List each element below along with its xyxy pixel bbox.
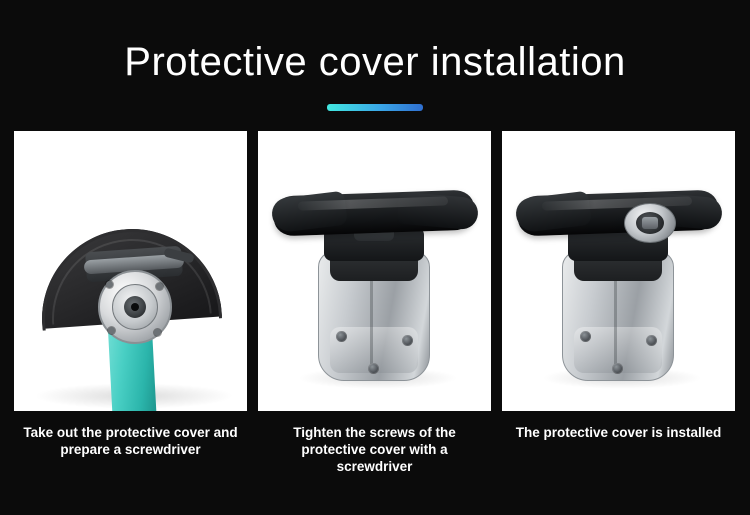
steps-row: Take out the protective cover and prepar…	[14, 131, 736, 475]
step-card-3: The protective cover is installed	[502, 131, 735, 475]
hub-bolt	[106, 281, 113, 288]
cover-screw	[368, 363, 379, 374]
poster-root: Protective cover installation	[0, 0, 750, 515]
page-title: Protective cover installation	[0, 38, 750, 86]
step-photo-2	[258, 131, 491, 411]
step-card-1: Take out the protective cover and prepar…	[14, 131, 247, 475]
cover-screw	[612, 363, 623, 374]
hub-bolt	[156, 283, 163, 290]
step-caption-3: The protective cover is installed	[502, 424, 735, 441]
hub-bolt	[108, 327, 115, 334]
step-caption-2: Tighten the screws of the protective cov…	[258, 424, 491, 475]
step-photo-1	[14, 131, 247, 411]
step-caption-1: Take out the protective cover and prepar…	[14, 424, 247, 458]
cover-screw	[336, 331, 347, 342]
step-card-2: Tighten the screws of the protective cov…	[258, 131, 491, 475]
cover-screw	[646, 335, 657, 346]
cover-screw	[402, 335, 413, 346]
cover-screw	[580, 331, 591, 342]
spindle-nut	[642, 217, 658, 229]
accent-divider	[327, 104, 423, 111]
step-photo-3	[502, 131, 735, 411]
hub-bolt	[154, 329, 161, 336]
spindle-hole	[131, 303, 139, 311]
